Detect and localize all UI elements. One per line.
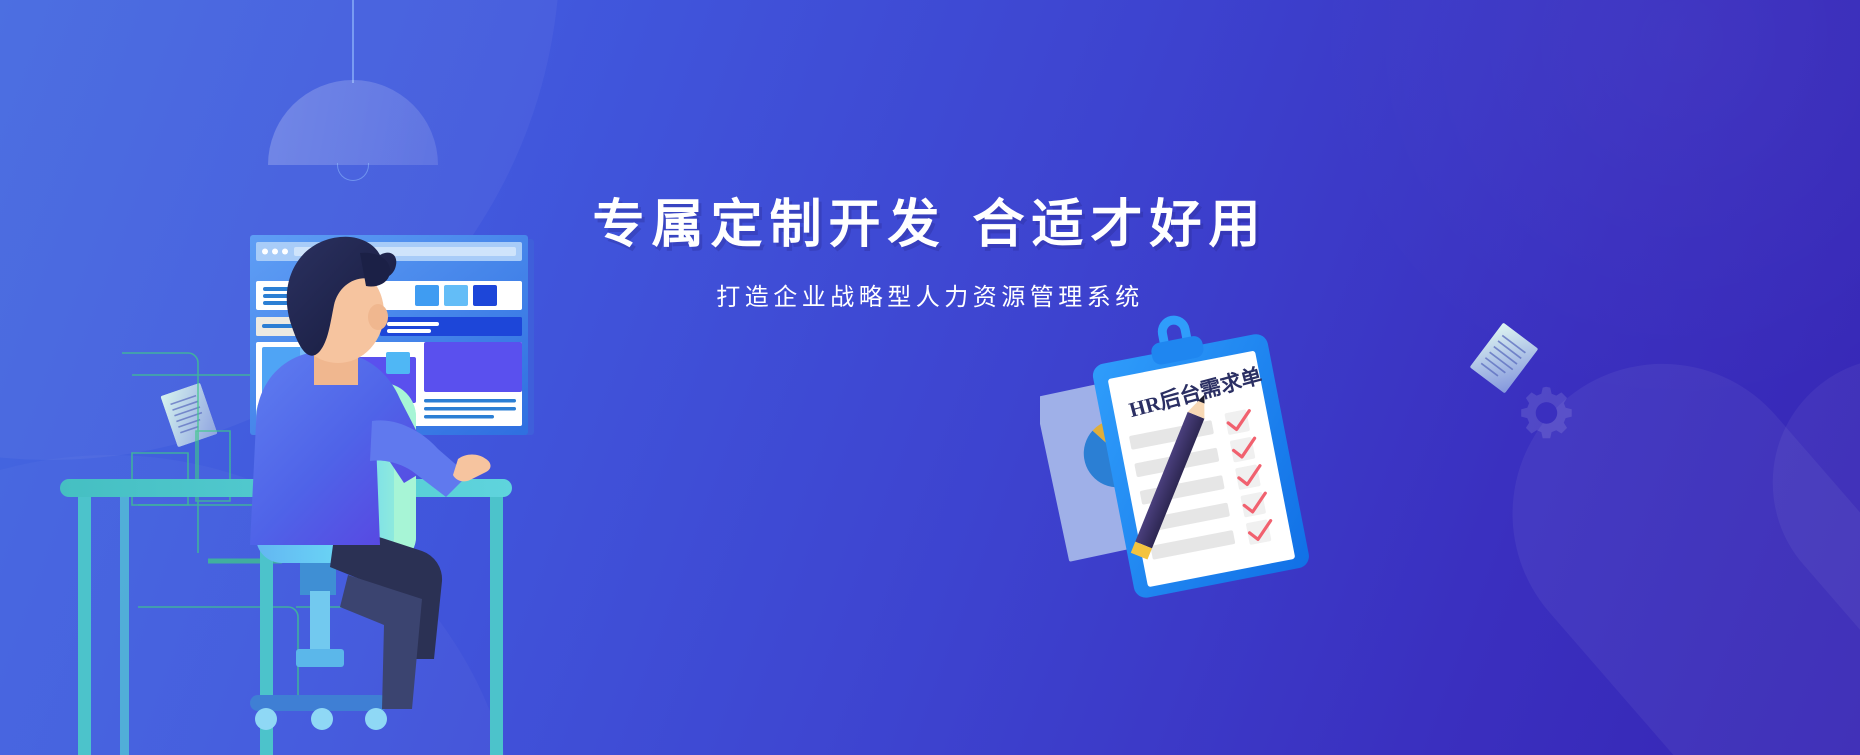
headline-part-2: 合适才好用: [973, 196, 1268, 254]
headline-part-1: 专属定制开发: [592, 196, 946, 254]
gear-icon-right: [1517, 383, 1575, 441]
page-title: 专属定制开发合适才好用: [0, 196, 1860, 256]
lamp-bulb: [337, 163, 369, 181]
clipboard: HR后台需求单: [1084, 305, 1311, 600]
headline-block: 专属定制开发合适才好用 打造企业战略型人力资源管理系统: [0, 196, 1860, 312]
page-subtitle: 打造企业战略型人力资源管理系统: [0, 277, 1860, 312]
lamp-cord: [352, 0, 354, 83]
hero-banner: 专属定制开发合适才好用 打造企业战略型人力资源管理系统: [0, 0, 1860, 755]
hr-requirement-clipboard-illustration: HR后台需求单: [1040, 305, 1370, 605]
lamp-shade: [268, 80, 438, 165]
person-at-desk-illustration: [60, 235, 620, 755]
background-diagonal-bar-2: [1721, 306, 1860, 755]
